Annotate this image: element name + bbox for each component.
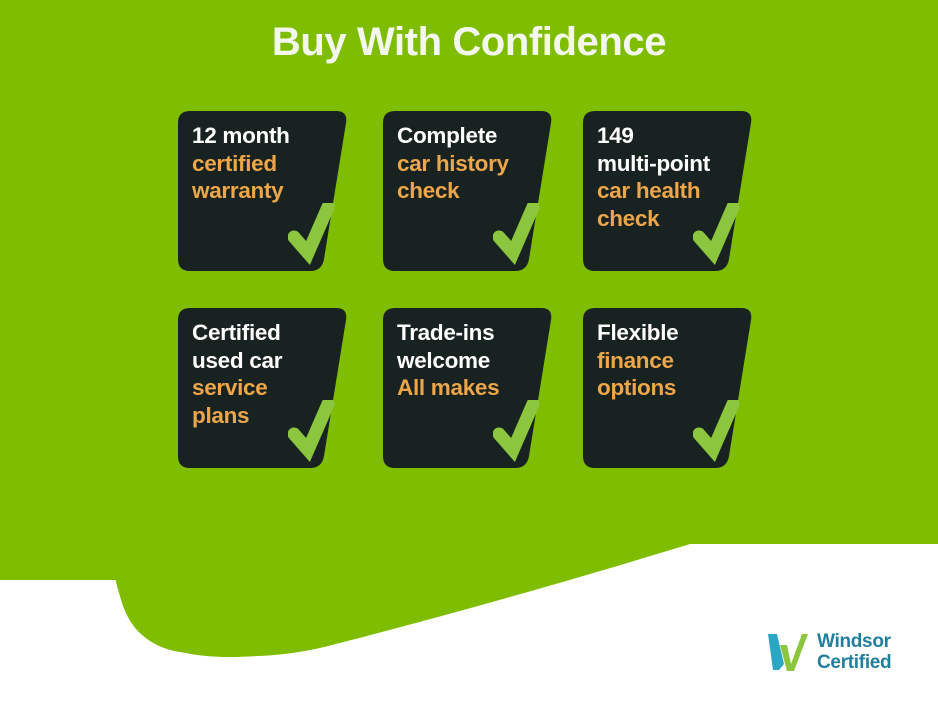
benefit-card-trade-ins[interactable]: Trade-ins welcome All makes — [383, 308, 553, 468]
card-line: options — [597, 374, 745, 402]
card-text: Trade-ins welcome All makes — [397, 319, 545, 402]
card-line: All makes — [397, 374, 545, 402]
card-line: 149 — [597, 122, 745, 150]
page-title: Buy With Confidence — [0, 18, 938, 66]
logo-line-1: Windsor — [817, 631, 891, 652]
card-text: Certified used car service plans — [192, 319, 340, 429]
check-icon — [493, 203, 545, 265]
card-line: Complete — [397, 122, 545, 150]
windsor-w-icon — [764, 631, 808, 673]
card-line: Trade-ins — [397, 319, 545, 347]
card-line: Flexible — [597, 319, 745, 347]
card-line: finance — [597, 347, 745, 375]
card-text: 149 multi-point car health check — [597, 122, 745, 232]
card-line: car health — [597, 177, 745, 205]
card-line: Certified — [192, 319, 340, 347]
windsor-certified-logo[interactable]: Windsor Certified — [764, 626, 924, 678]
logo-line-2: Certified — [817, 652, 891, 673]
card-line: warranty — [192, 177, 340, 205]
card-text: Complete car history check — [397, 122, 545, 205]
card-line: 12 month — [192, 122, 340, 150]
benefit-card-grid: 12 month certified warranty Complete car… — [178, 111, 758, 473]
benefit-card-multi-point-health-check[interactable]: 149 multi-point car health check — [583, 111, 753, 271]
card-line: car history — [397, 150, 545, 178]
benefit-card-flexible-finance[interactable]: Flexible finance options — [583, 308, 753, 468]
poster-canvas: Buy With Confidence 12 month certified w… — [0, 0, 938, 704]
card-text: Flexible finance options — [597, 319, 745, 402]
card-line: certified — [192, 150, 340, 178]
benefit-card-certified-warranty[interactable]: 12 month certified warranty — [178, 111, 348, 271]
card-line: multi-point — [597, 150, 745, 178]
card-line: check — [597, 205, 745, 233]
check-icon — [288, 203, 340, 265]
card-text: 12 month certified warranty — [192, 122, 340, 205]
check-icon — [693, 400, 745, 462]
benefit-card-service-plans[interactable]: Certified used car service plans — [178, 308, 348, 468]
card-line: plans — [192, 402, 340, 430]
card-line: service — [192, 374, 340, 402]
benefit-card-car-history-check[interactable]: Complete car history check — [383, 111, 553, 271]
check-icon — [493, 400, 545, 462]
card-line: used car — [192, 347, 340, 375]
card-line: check — [397, 177, 545, 205]
logo-wordmark: Windsor Certified — [817, 631, 891, 673]
card-line: welcome — [397, 347, 545, 375]
